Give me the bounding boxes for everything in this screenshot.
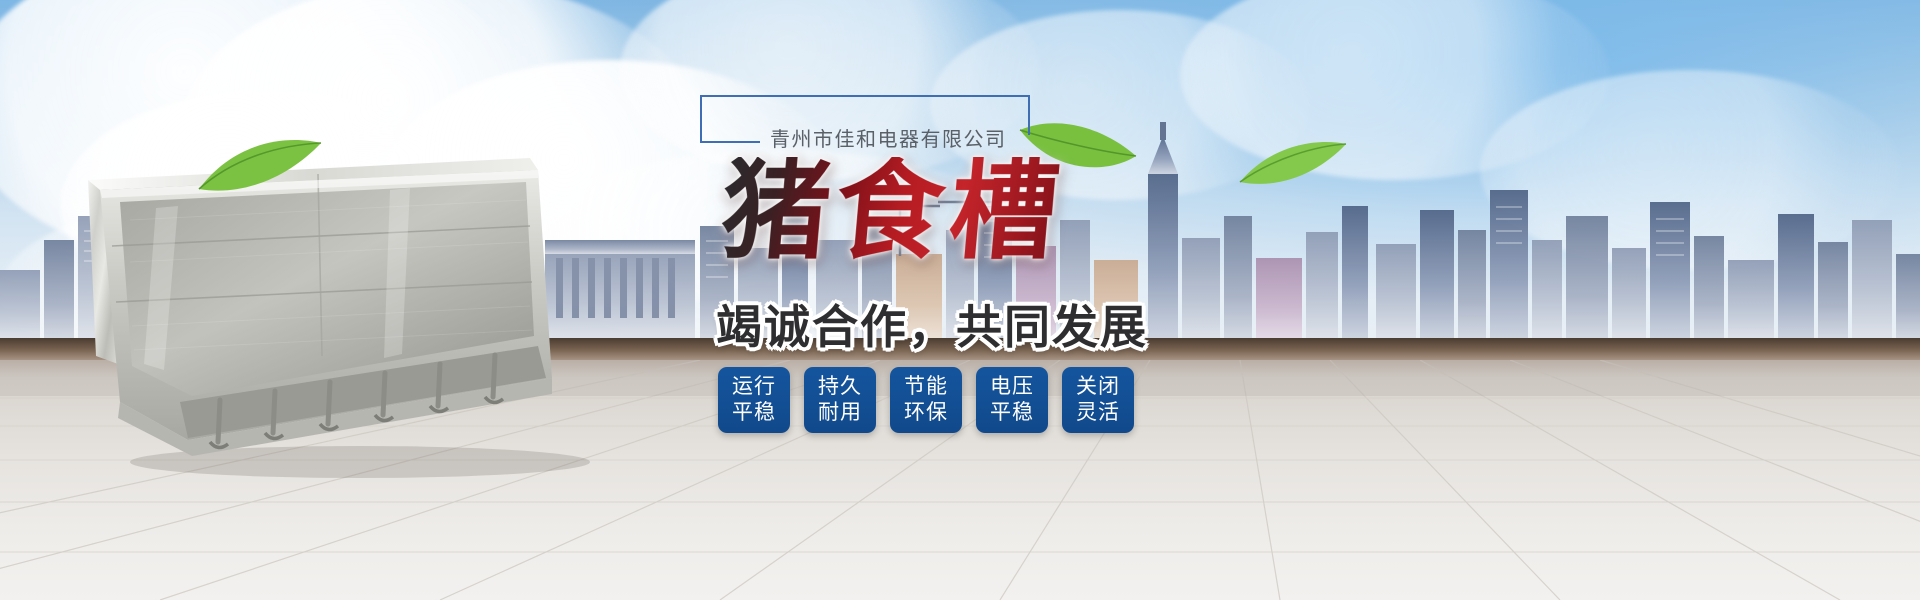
feature-badge[interactable]: 电压 平稳 (976, 367, 1048, 433)
badge-line-1: 运行 (732, 374, 776, 400)
frame-bottom-line (700, 141, 760, 143)
feature-badge[interactable]: 运行 平稳 (718, 367, 790, 433)
badge-line-2: 灵活 (1076, 400, 1120, 426)
building-icon (1376, 190, 1920, 340)
badge-line-1: 电压 (990, 374, 1034, 400)
page-title: 猪食槽 (717, 157, 1068, 265)
promo-banner: 青州市佳和电器有限公司 猪食槽 竭诚合作，共同发展 运行 平稳 持久 耐用 节能… (0, 0, 1920, 600)
frame-left-line (700, 95, 702, 143)
frame-top-line (700, 95, 1030, 97)
company-name-frame: 青州市佳和电器有限公司 (700, 95, 1040, 150)
badge-line-1: 关闭 (1076, 374, 1120, 400)
feature-badge[interactable]: 关闭 灵活 (1062, 367, 1134, 433)
feature-badge[interactable]: 节能 环保 (890, 367, 962, 433)
badge-line-2: 耐用 (818, 400, 862, 426)
badge-line-2: 环保 (904, 400, 948, 426)
badge-line-2: 平稳 (990, 400, 1034, 426)
pig-feeding-trough-image (60, 150, 660, 480)
leaf-icon (1238, 138, 1348, 196)
badge-line-1: 节能 (904, 374, 948, 400)
feature-badge[interactable]: 持久 耐用 (804, 367, 876, 433)
leaf-icon (195, 135, 325, 205)
badge-line-2: 平稳 (732, 400, 776, 426)
banner-content: 青州市佳和电器有限公司 猪食槽 竭诚合作，共同发展 运行 平稳 持久 耐用 节能… (700, 95, 1220, 475)
subtitle-slogan: 竭诚合作，共同发展 (716, 291, 1148, 357)
badge-line-1: 持久 (818, 374, 862, 400)
feature-badge-list: 运行 平稳 持久 耐用 节能 环保 电压 平稳 关闭 灵活 (718, 367, 1134, 433)
frame-right-line (1028, 95, 1030, 135)
